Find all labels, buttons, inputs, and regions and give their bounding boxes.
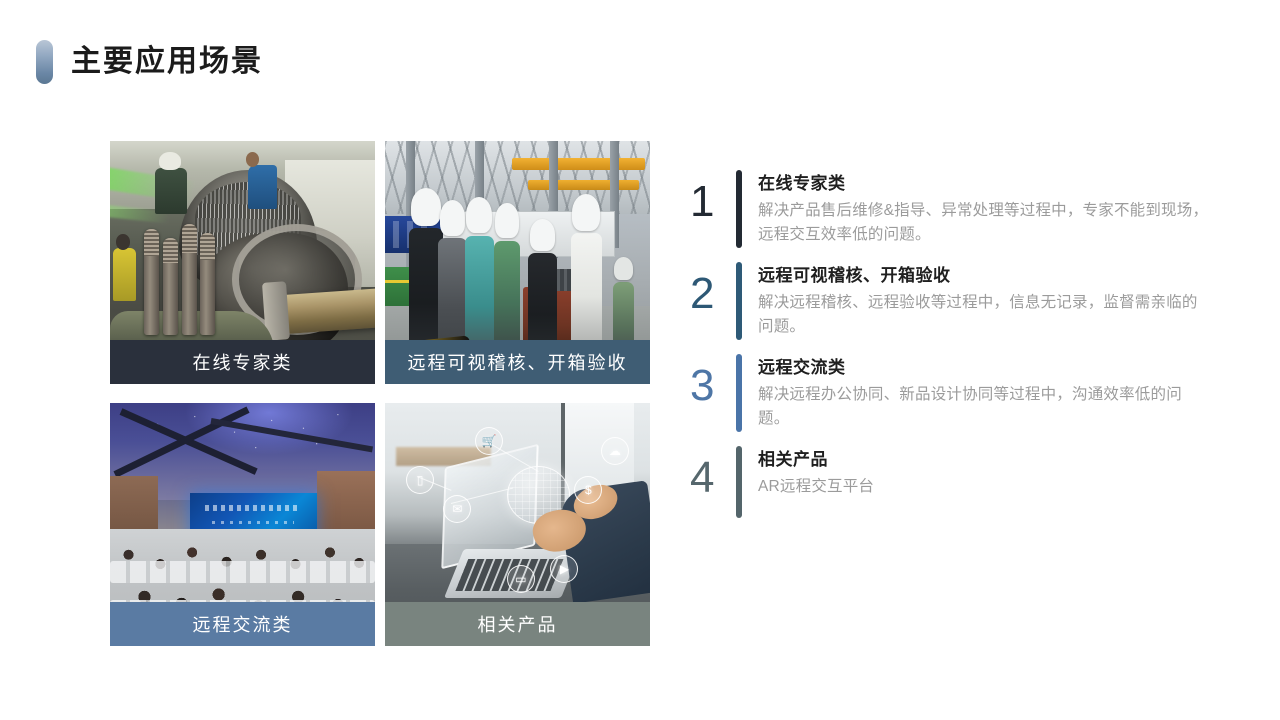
card-caption: 相关产品 xyxy=(385,602,650,646)
card-caption: 远程可视稽核、开箱验收 xyxy=(385,340,650,384)
list-item[interactable]: 1 在线专家类 解决产品售后维修&指导、异常处理等过程中，专家不能到现场，远程交… xyxy=(690,170,1210,248)
list-item-accent-bar xyxy=(736,262,742,340)
scenario-list: 1 在线专家类 解决产品售后维修&指导、异常处理等过程中，专家不能到现场，远程交… xyxy=(690,170,1210,532)
list-item[interactable]: 3 远程交流类 解决远程办公协同、新品设计协同等过程中，沟通效率低的问题。 xyxy=(690,354,1210,432)
cart-icon: 🛒 xyxy=(475,427,503,455)
list-item-number: 4 xyxy=(690,446,736,500)
list-item-number: 2 xyxy=(690,262,736,316)
scenario-card-online-expert[interactable]: 在线专家类 xyxy=(110,141,375,384)
list-item-number: 1 xyxy=(690,170,736,224)
page-title: 主要应用场景 xyxy=(71,47,263,77)
scenario-card-related-product[interactable]: 🛒 ☁ ▯ ✉ $ ▭ ▶ 相关产品 xyxy=(385,403,650,646)
list-item[interactable]: 4 相关产品 AR远程交互平台 xyxy=(690,446,1210,518)
list-item-title: 远程交流类 xyxy=(758,356,1210,380)
card-caption: 在线专家类 xyxy=(110,340,375,384)
list-item-accent-bar xyxy=(736,170,742,248)
list-item-description: 解决远程稽核、远程验收等过程中，信息无记录，监督需亲临的问题。 xyxy=(758,291,1210,339)
list-item-accent-bar xyxy=(736,446,742,518)
list-item-title: 相关产品 xyxy=(758,448,1210,472)
phone-icon: ▯ xyxy=(406,466,434,494)
scenario-card-remote-communication[interactable]: 远程交流类 xyxy=(110,403,375,646)
list-item-title: 远程可视稽核、开箱验收 xyxy=(758,264,1210,288)
list-item-number: 3 xyxy=(690,354,736,408)
slide-header: 主要应用场景 xyxy=(36,40,263,84)
title-bullet-icon xyxy=(36,40,53,84)
list-item-accent-bar xyxy=(736,354,742,432)
list-item-description: 解决远程办公协同、新品设计协同等过程中，沟通效率低的问题。 xyxy=(758,383,1210,431)
window-icon: ▭ xyxy=(507,565,535,593)
list-item-title: 在线专家类 xyxy=(758,172,1210,196)
list-item-description: AR远程交互平台 xyxy=(758,475,1210,499)
cloud-icon: ☁ xyxy=(601,437,629,465)
list-item-description: 解决产品售后维修&指导、异常处理等过程中，专家不能到现场，远程交互效率低的问题。 xyxy=(758,199,1210,247)
scenario-card-grid: 在线专家类 远程 xyxy=(110,141,650,646)
list-item[interactable]: 2 远程可视稽核、开箱验收 解决远程稽核、远程验收等过程中，信息无记录，监督需亲… xyxy=(690,262,1210,340)
scenario-card-remote-audit[interactable]: 远程可视稽核、开箱验收 xyxy=(385,141,650,384)
card-caption: 远程交流类 xyxy=(110,602,375,646)
